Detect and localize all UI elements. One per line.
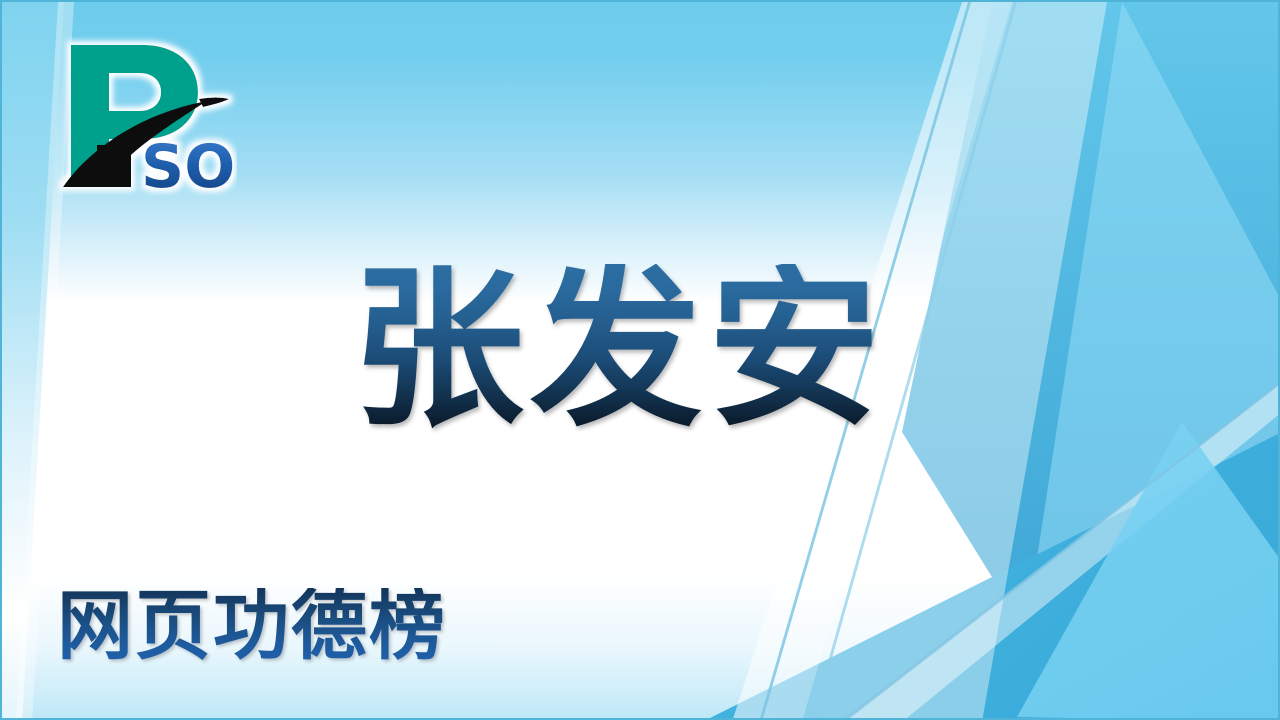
presentation-slide: SO 张发安 网页功德榜 (0, 0, 1280, 720)
logo-so-text: SO (141, 132, 235, 202)
footer-caption: 网页功德榜 (57, 588, 447, 664)
logo-p-leg-black (97, 145, 131, 187)
logo-swoosh-tip (199, 98, 229, 108)
pso-logo-icon: SO (57, 35, 237, 215)
page-title: 张发安 (352, 264, 952, 436)
